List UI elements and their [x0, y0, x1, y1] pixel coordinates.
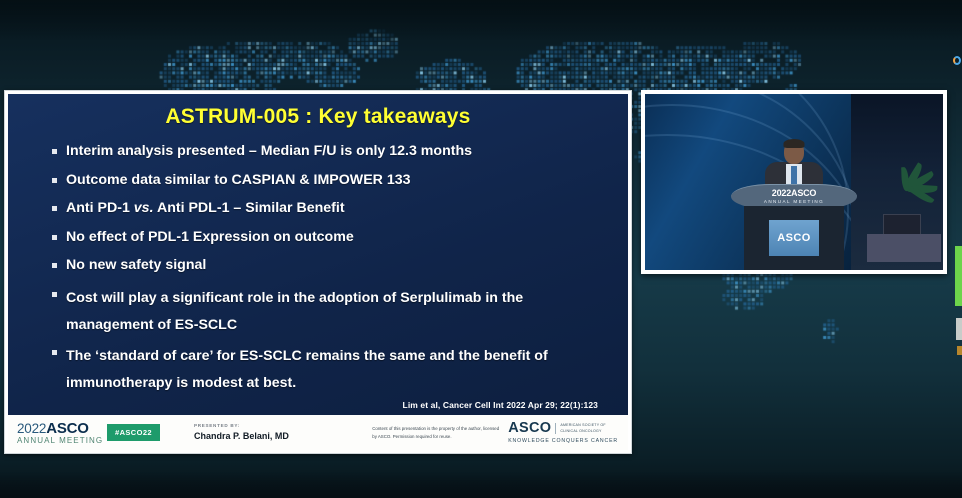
bullet-item: Cost will play a significant role in the… [52, 285, 602, 339]
slide-title: ASTRUM-005 : Key takeaways [8, 105, 628, 129]
slide-panel[interactable]: ASTRUM-005 : Key takeaways Interim analy… [4, 90, 632, 454]
bullet-item: No effect of PDL-1 Expression on outcome [52, 228, 602, 247]
edge-fragment-grey-bar [956, 318, 962, 340]
podium-year: 2022 [772, 188, 791, 198]
asco-wordmark: ASCO [508, 421, 551, 436]
bullet-text: Interim analysis presented – Median F/U … [66, 143, 472, 159]
podium-screen: ASCO [769, 220, 819, 256]
top-vignette [0, 0, 962, 40]
bullet-text: Outcome data similar to CASPIAN & IMPOWE… [66, 172, 411, 188]
asco-society-line-1: AMERICAN SOCIETY OF [560, 423, 605, 428]
logo-subtitle: ANNUAL MEETING [17, 437, 93, 445]
bullet-text: The ‘standard of care’ for ES-SCLC remai… [66, 348, 548, 391]
bottom-vignette [0, 472, 962, 498]
asco-tagline: KNOWLEDGE CONQUERS CANCER [508, 438, 618, 444]
potted-plant [883, 136, 937, 202]
presented-by-label: PRESENTED BY: [194, 423, 289, 429]
speaker-video-panel[interactable]: 2022ASCO ANNUAL MEETING ASCO [641, 90, 947, 274]
presentation-viewer: ASTRUM-005 : Key takeaways Interim analy… [0, 0, 962, 498]
bullet-text-italic: vs. [134, 200, 154, 216]
bullet-text-post: Anti PDL-1 – Similar Benefit [154, 200, 345, 216]
slide-content-area: ASTRUM-005 : Key takeaways Interim analy… [8, 94, 628, 417]
edge-fragment-circle-icon [953, 56, 961, 65]
bullet-item: The ‘standard of care’ for ES-SCLC remai… [52, 343, 602, 397]
legal-notice: Content of this presentation is the prop… [372, 425, 500, 439]
podium-screen-text: ASCO [777, 232, 810, 244]
bullet-text: Cost will play a significant role in the… [66, 290, 523, 333]
bullet-item: No new safety signal [52, 256, 602, 275]
bullet-text-pre: Anti PD-1 [66, 200, 134, 216]
bullet-item: Interim analysis presented – Median F/U … [52, 142, 602, 161]
logo-year: 2022 [17, 421, 46, 436]
logo-brand: ASCO [46, 420, 89, 437]
slide-bullet-list: Interim analysis presented – Median F/U … [52, 142, 602, 401]
stage-right-wall [851, 94, 943, 270]
presenter-name: Chandra P. Belani, MD [194, 431, 289, 442]
asco-society-line-2: CLINICAL ONCOLOGY [560, 429, 605, 434]
hashtag-badge: #ASCO22 [107, 424, 160, 441]
asco-society-logo: ASCO AMERICAN SOCIETY OF CLINICAL ONCOLO… [508, 421, 618, 444]
edge-fragment-amber-bar [957, 346, 962, 355]
video-frame: 2022ASCO ANNUAL MEETING ASCO [645, 94, 943, 270]
bullet-item: Outcome data similar to CASPIAN & IMPOWE… [52, 171, 602, 190]
podium: 2022ASCO ANNUAL MEETING ASCO [731, 184, 857, 270]
bullet-item: Anti PD-1 vs. Anti PDL-1 – Similar Benef… [52, 199, 602, 218]
podium-subtitle: ANNUAL MEETING [731, 199, 857, 204]
slide-footer-bar: 2022ASCO ANNUAL MEETING #ASCO22 PRESENTE… [8, 415, 628, 450]
podium-brand: ASCO [791, 188, 816, 198]
bullet-text: No effect of PDL-1 Expression on outcome [66, 229, 354, 245]
laptop [883, 214, 921, 236]
asco-annual-meeting-logo: 2022ASCO ANNUAL MEETING [17, 421, 93, 445]
stage-table [867, 234, 941, 262]
slide-citation: Lim et al, Cancer Cell Int 2022 Apr 29; … [8, 400, 598, 410]
presenter-block: PRESENTED BY: Chandra P. Belani, MD [194, 423, 289, 443]
edge-fragment-green-bar [955, 246, 962, 306]
bullet-text: No new safety signal [66, 257, 206, 273]
